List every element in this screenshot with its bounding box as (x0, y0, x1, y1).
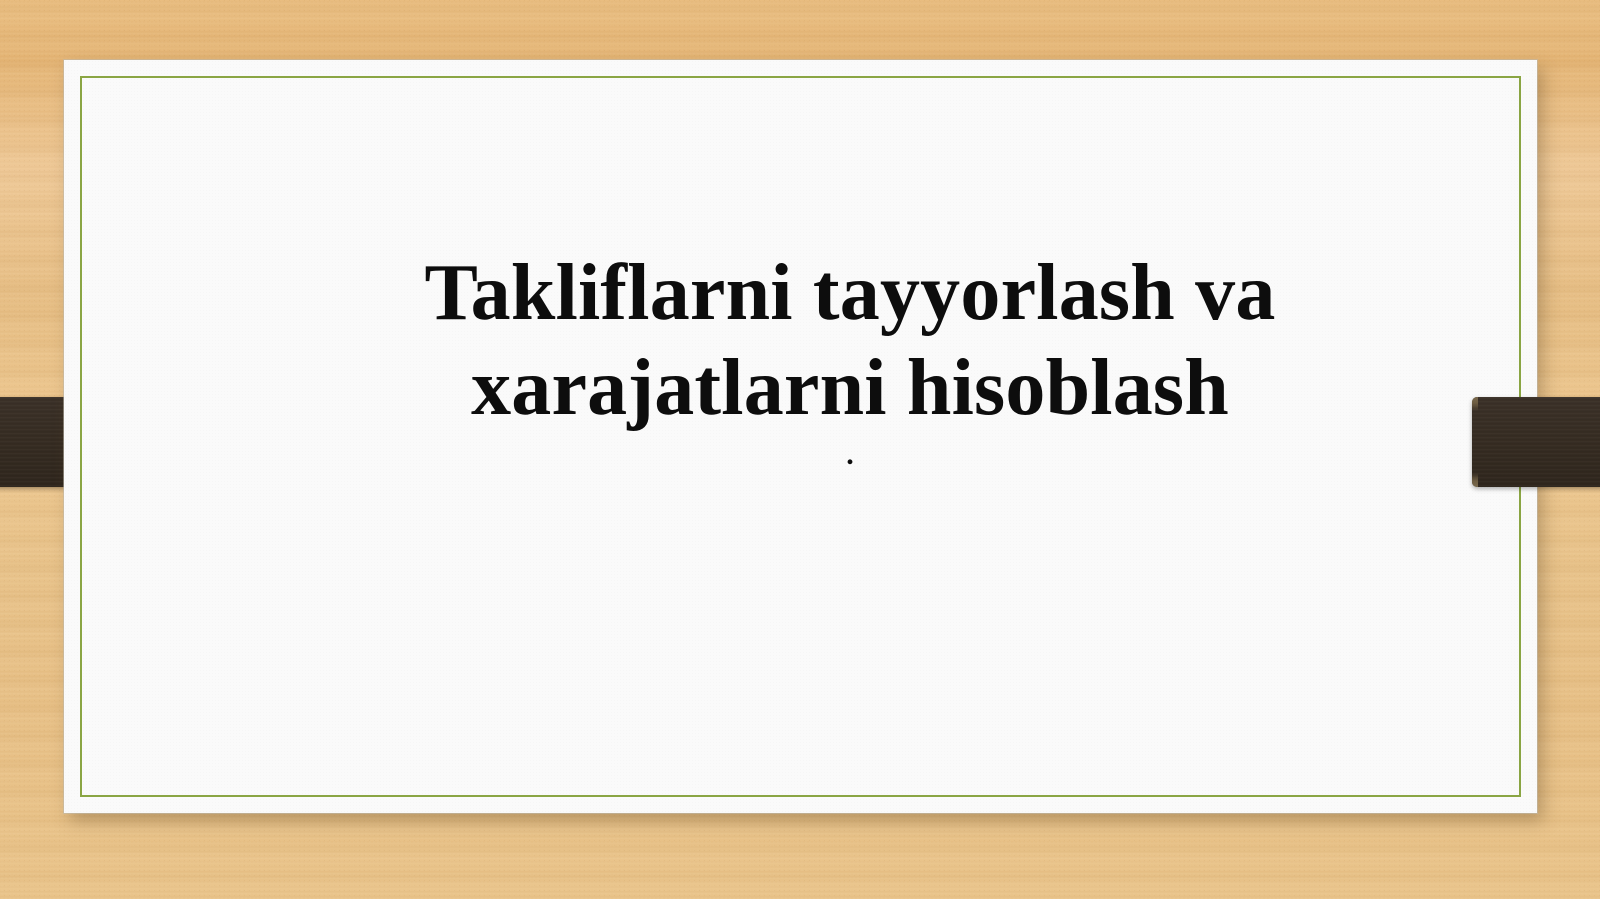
slide-content-card: Takliflarni tayyorlash va xarajatlarni h… (64, 60, 1537, 813)
right-ribbon-cap (1472, 397, 1478, 487)
slide-subtitle: . (160, 436, 1540, 470)
slide-title: Takliflarni tayyorlash va xarajatlarni h… (160, 246, 1540, 436)
presentation-slide: Takliflarni tayyorlash va xarajatlarni h… (0, 0, 1600, 899)
title-block: Takliflarni tayyorlash va xarajatlarni h… (160, 246, 1540, 470)
right-ribbon-bar (1472, 397, 1600, 487)
